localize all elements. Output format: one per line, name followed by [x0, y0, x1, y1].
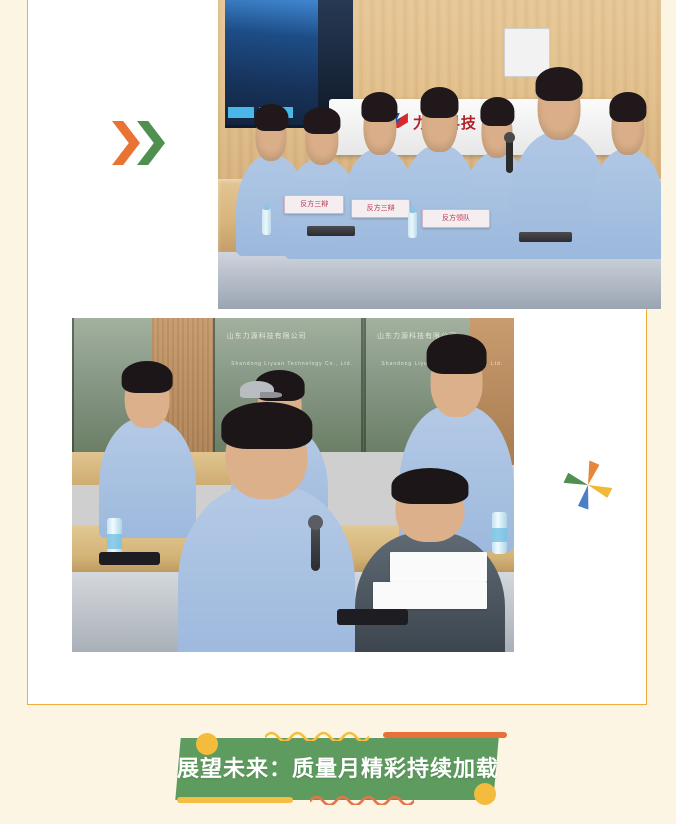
pinwheel-blade-orange: [583, 460, 600, 486]
chevron-right-green-icon: [137, 121, 165, 165]
photo1-person: [590, 149, 661, 259]
photo1-floor: [218, 252, 661, 309]
photo1-nameplate: 反方三辩: [284, 195, 344, 214]
photo2-phone: [337, 609, 408, 626]
photo1-person-head: [363, 98, 396, 155]
photo2-glass-company-name: 山东力源科技有限公司: [227, 331, 307, 341]
content-card: 力源科技 反方三辩 反方三辩 反方领队: [27, 0, 647, 705]
banner-title: 展望未来：质量月精彩持续加载: [0, 738, 676, 800]
photo1-water-bottle: [408, 212, 417, 238]
photo-audience-speaking: 山东力源科技有限公司 Shandong Liyuan Technology Co…: [72, 318, 514, 652]
photo2-microphone: [311, 525, 320, 571]
pinwheel-blade-blue: [578, 484, 594, 510]
pinwheel-blade-yellow: [586, 480, 612, 499]
photo2-person-speaker: [178, 485, 355, 652]
pinwheel-blade-green: [563, 472, 589, 490]
photo2-bottle-label: [107, 534, 122, 548]
banner-wave-bottom: [310, 793, 414, 805]
photo1-nameplate: 反方三辩: [351, 199, 411, 218]
pinwheel-star-icon: [562, 459, 614, 511]
photo1-person-head: [256, 109, 287, 161]
photo2-person-head: [395, 476, 464, 543]
photo2-water-bottle: [492, 512, 507, 554]
double-chevron-right-icon: [112, 121, 182, 165]
banner-dot-left: [196, 733, 218, 755]
banner-dot-right: [474, 783, 496, 805]
photo1-person-head: [611, 98, 644, 155]
photo1-laptop: [519, 232, 572, 242]
photo1-microphone: [506, 139, 513, 173]
photo2-glass-company-name-en: Shandong Liyuan Technology Co., Ltd.: [231, 361, 353, 367]
photo2-paper-document: [390, 552, 487, 582]
photo2-person-head: [430, 343, 483, 416]
chevron-right-orange-icon: [112, 121, 140, 165]
photo1-laptop: [307, 226, 356, 236]
banner-wave-top: [265, 729, 369, 741]
photo2-person-head: [125, 368, 170, 428]
photo1-person-head: [422, 93, 457, 152]
photo2-baseball-cap: [240, 381, 274, 398]
photo1-nameplate: 反方领队: [422, 209, 490, 228]
photo-conference-room-speaker: 力源科技 反方三辩 反方三辩 反方领队: [218, 0, 661, 309]
banner-bar-yellow: [177, 797, 293, 803]
photo2-speaker-head: [226, 412, 307, 499]
photo2-phone: [99, 552, 161, 565]
photo2-paper-document: [373, 582, 488, 609]
banner-bar-orange: [383, 732, 507, 738]
photo2-bottle-label: [492, 528, 507, 542]
photo1-water-bottle: [262, 209, 271, 235]
photo1-speaker-head: [538, 74, 581, 140]
photo1-person-head: [306, 113, 339, 165]
